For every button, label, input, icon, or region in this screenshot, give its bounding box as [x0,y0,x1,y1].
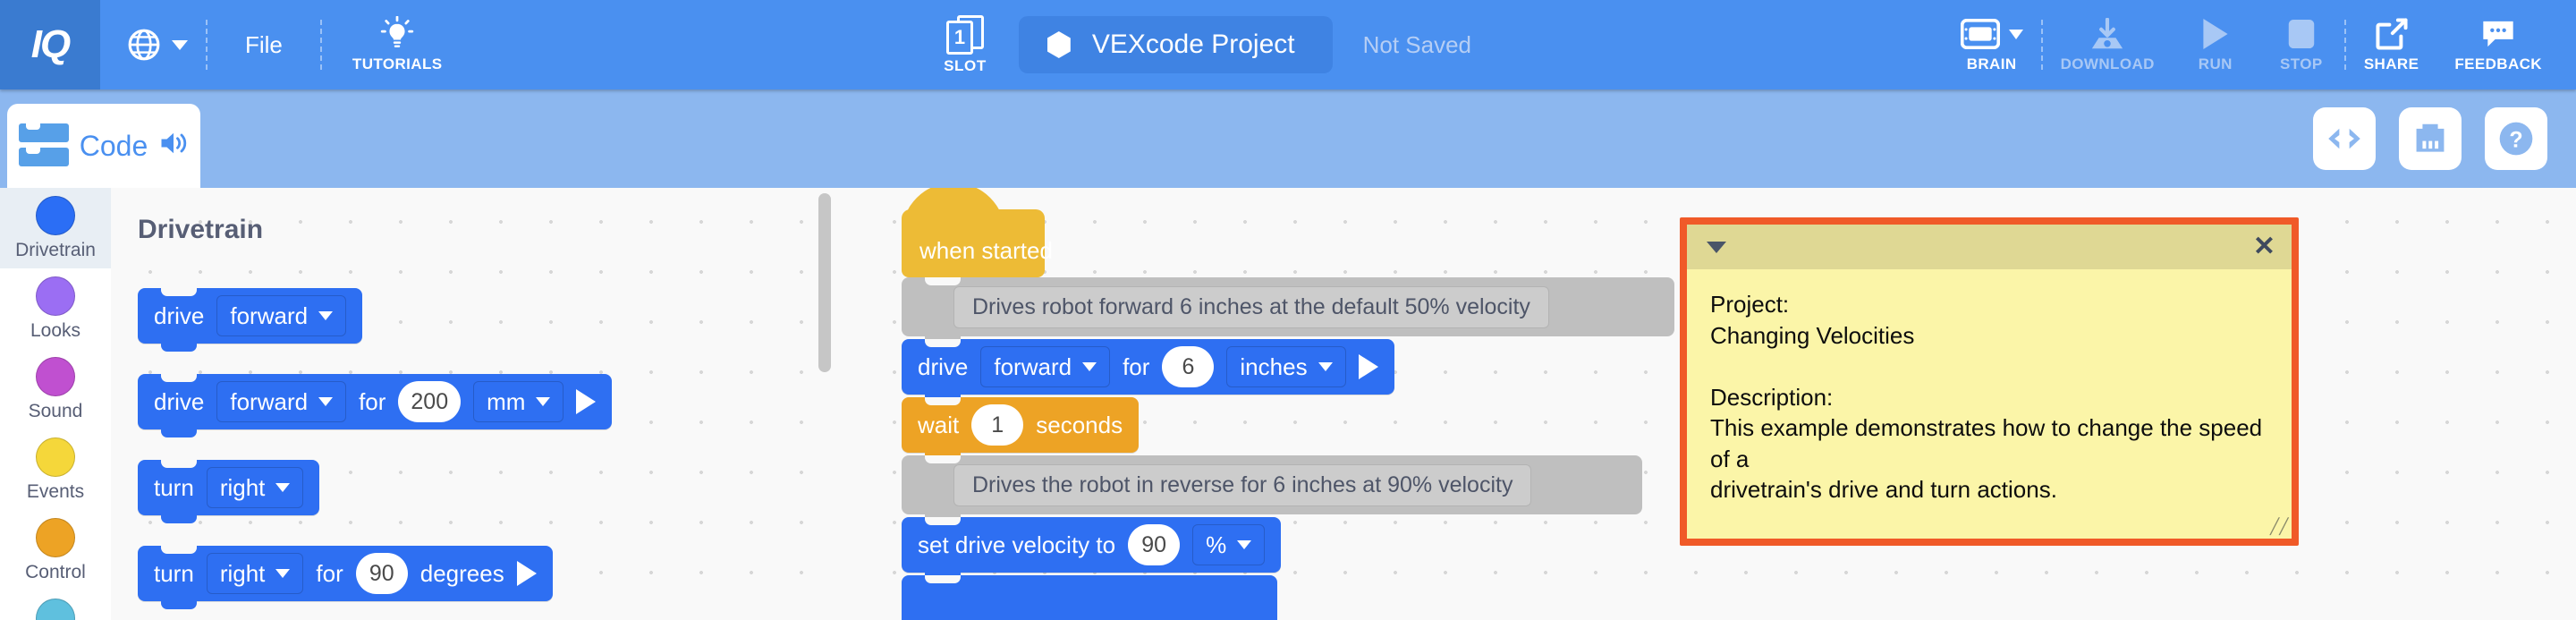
category-color-dot [36,357,75,396]
hexagon-icon [1047,31,1071,58]
help-button[interactable]: ? [2485,107,2547,170]
sidebar-item-looks[interactable]: Looks [0,268,111,349]
turn-direction-dropdown[interactable]: right [207,553,304,594]
sidebar-item-sound[interactable]: Sound [0,349,111,429]
block-label-degrees: degrees [420,560,504,588]
share-button[interactable]: SHARE [2346,0,2437,89]
slot-label: SLOT [944,57,987,75]
secondary-toolbar: Code ? [0,89,2576,188]
download-button[interactable]: DOWNLOAD [2043,0,2173,89]
chevron-down-icon [275,569,290,578]
play-icon [2200,16,2231,52]
share-icon [2375,16,2409,52]
vex-iq-logo[interactable]: IQ [0,0,100,89]
set-drive-velocity-block[interactable]: set drive velocity to 90 % [902,517,1281,573]
tutorials-button[interactable]: TUTORIALS [322,0,473,89]
comment-icon [2480,16,2516,52]
tutorials-label: TUTORIALS [352,55,443,73]
palette-scrollbar[interactable] [818,193,831,372]
sidebar-item-label: Drivetrain [15,240,96,261]
sidebar-item-label: Events [27,481,84,503]
category-color-dot [36,196,75,235]
project-name-text: VEXcode Project [1092,30,1295,60]
block-label: drive [154,388,204,416]
run-button[interactable]: RUN [2173,0,2258,89]
next-block-partial[interactable] [902,575,1277,620]
sidebar-item-label: Looks [30,320,80,342]
palette-drive-direction-block[interactable]: drive forward [138,288,362,344]
speaker-icon[interactable] [158,130,189,162]
palette-turn-for-degrees-block[interactable]: turn right for 90 degrees [138,546,553,601]
block-palette[interactable]: Drivetrain drive forward drive forward f… [111,188,835,620]
run-block-icon[interactable] [1359,354,1378,379]
feedback-button[interactable]: FEEDBACK [2436,0,2560,89]
run-label: RUN [2199,55,2233,73]
block-label: drive [918,353,968,381]
distance-input[interactable]: 6 [1162,346,1214,387]
chevron-down-icon [1318,362,1333,371]
dropdown-value: % [1206,531,1226,559]
block-label: wait [918,412,959,439]
angle-brackets-icon [2326,125,2363,152]
category-sidebar: Drivetrain Looks Sound Events Control Se… [0,188,111,620]
category-color-dot [36,599,75,620]
distance-input[interactable]: 200 [398,381,461,422]
block-label-seconds: seconds [1036,412,1123,439]
block-label-for: for [316,560,343,588]
sidebar-item-label: Control [25,562,86,583]
degrees-input[interactable]: 90 [356,553,408,594]
direction-dropdown[interactable]: forward [216,381,346,422]
globe-icon [127,28,161,62]
save-status-label: Not Saved [1363,31,1471,59]
monitor-icon [2413,123,2447,155]
unit-dropdown[interactable]: mm [473,381,563,422]
turn-direction-dropdown[interactable]: right [207,467,304,508]
tab-code-label: Code [80,130,148,163]
wait-seconds-block[interactable]: wait 1 seconds [902,397,1139,453]
brain-button[interactable]: BRAIN [1943,0,2041,89]
chevron-down-icon[interactable] [1707,242,1726,253]
velocity-unit-dropdown[interactable]: % [1192,524,1265,565]
sidebar-item-drivetrain[interactable]: Drivetrain [0,188,111,268]
unit-dropdown[interactable]: inches [1226,346,1345,387]
lightbulb-icon [379,16,415,54]
comment-text: Drives the robot in reverse for 6 inches… [953,464,1531,506]
header-tool-group: BRAIN DOWNLOAD RUN STOP [1943,0,2576,89]
block-label: set drive velocity to [918,531,1115,559]
monitor-button[interactable] [2399,107,2462,170]
slot-icon: 1 [946,15,984,55]
code-view-button[interactable] [2313,107,2376,170]
dropdown-value: right [220,474,266,502]
run-block-icon[interactable] [576,389,596,414]
block-label: drive [154,302,204,330]
tab-code[interactable]: Code [7,104,200,188]
when-started-block[interactable]: when started [902,209,1045,277]
dropdown-value: forward [994,353,1072,381]
dropdown-value: inches [1240,353,1307,381]
chevron-down-icon [536,397,550,406]
language-selector[interactable] [100,0,206,89]
svg-text:?: ? [2509,127,2522,152]
sidebar-item-label: Sound [29,401,83,422]
velocity-input[interactable]: 90 [1128,524,1180,565]
palette-workspace-gap [835,188,852,620]
chevron-down-icon [172,40,188,50]
question-mark-icon: ? [2498,121,2534,157]
slot-indicator[interactable]: 1 SLOT [944,15,987,75]
file-menu-label: File [208,31,320,59]
block-label-for: for [1123,353,1149,381]
direction-dropdown[interactable]: forward [216,295,346,336]
block-label: turn [154,560,194,588]
feedback-label: FEEDBACK [2454,55,2542,73]
block-label: turn [154,474,194,502]
close-icon[interactable]: ✕ [2253,234,2275,260]
category-color-dot [36,518,75,557]
stop-label: STOP [2280,55,2323,73]
sidebar-item-control[interactable]: Control [0,510,111,590]
chevron-down-icon [1237,540,1251,549]
note-text[interactable]: Project: Changing Velocities Description… [1687,269,2292,539]
comment-block-1[interactable]: Drives robot forward 6 inches at the def… [902,277,1674,336]
note-title-bar: ✕ [1687,225,2292,269]
comment-text: Drives robot forward 6 inches at the def… [953,286,1549,328]
category-color-dot [36,437,75,477]
download-label: DOWNLOAD [2061,55,2155,73]
project-name-field[interactable]: VEXcode Project [1019,16,1333,73]
file-menu[interactable]: File [208,0,320,89]
block-label: when started [919,237,1053,265]
drive-for-distance-block[interactable]: drive forward for 6 inches [902,339,1394,395]
brain-label: BRAIN [1967,55,2017,73]
direction-dropdown[interactable]: forward [980,346,1110,387]
palette-drive-for-distance-block[interactable]: drive forward for 200 mm [138,374,612,429]
note-inner: ✕ Project: Changing Velocities Descripti… [1687,225,2292,539]
stop-icon [2287,16,2316,52]
dropdown-value: forward [230,388,308,416]
resize-handle-icon[interactable]: ╱╱ [2270,519,2286,535]
top-header-bar: IQ File TUTORIALS [0,0,2576,89]
slot-number: 1 [946,21,973,55]
chevron-down-icon [275,483,290,492]
dropdown-value: right [220,560,266,588]
subbar-button-group: ? [2313,107,2547,170]
stop-button[interactable]: STOP [2258,0,2344,89]
dropdown-value: forward [230,302,308,330]
project-note-comment[interactable]: ✕ Project: Changing Velocities Descripti… [1680,217,2299,546]
block-label-for: for [359,388,386,416]
logo-text: IQ [31,22,69,67]
share-label: SHARE [2364,55,2419,73]
chevron-down-icon [318,311,333,320]
comment-block-2[interactable]: Drives the robot in reverse for 6 inches… [902,455,1642,514]
chevron-down-icon [1082,362,1097,371]
category-color-dot [36,276,75,316]
brain-icon [1961,16,2023,52]
sidebar-item-events[interactable]: Events [0,429,111,510]
palette-turn-direction-block[interactable]: turn right [138,460,319,515]
blocks-icon [19,123,69,168]
sidebar-item-sensing[interactable]: Sensing [0,590,111,620]
download-icon [2089,16,2126,52]
run-block-icon[interactable] [517,561,537,586]
palette-title: Drivetrain [138,215,263,245]
dropdown-value: mm [487,388,525,416]
seconds-input[interactable]: 1 [971,404,1023,446]
chevron-down-icon [318,397,333,406]
